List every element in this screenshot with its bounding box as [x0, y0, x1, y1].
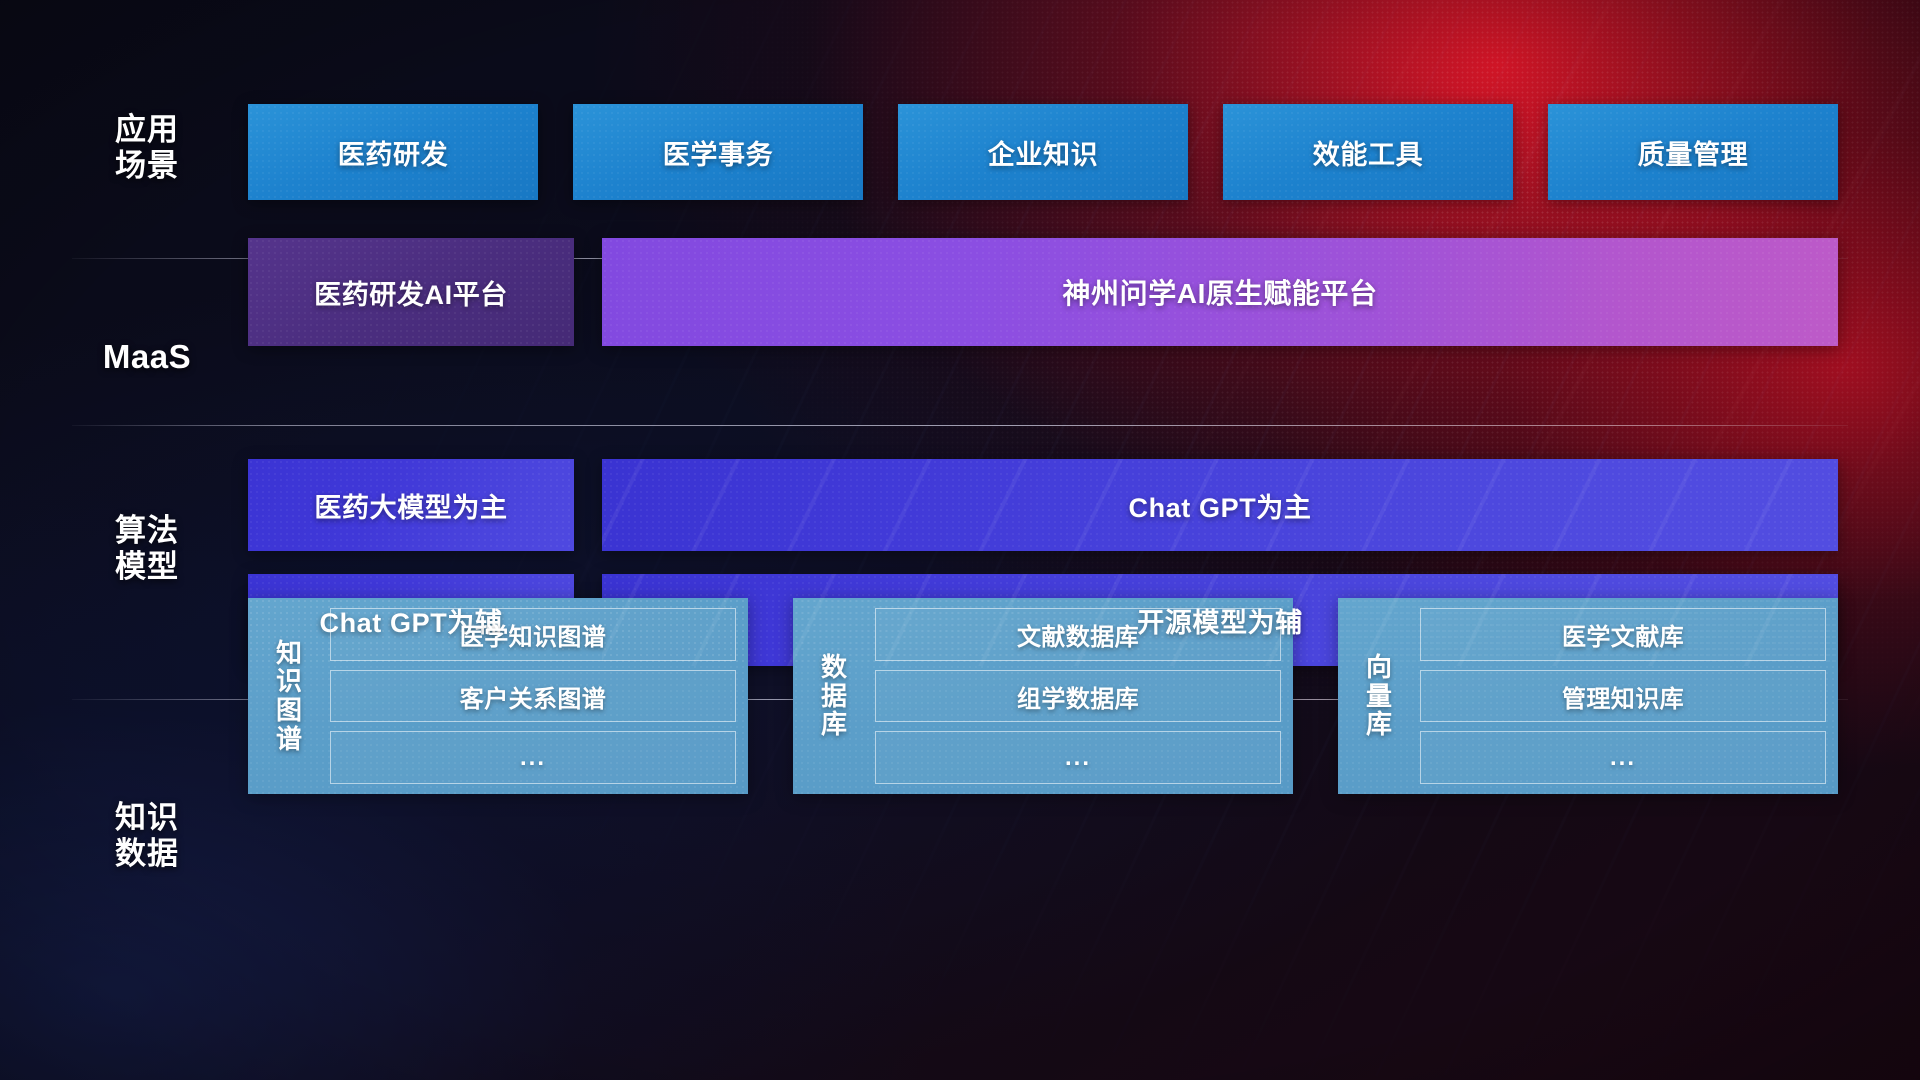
knowledge-group-label-char-4: 谱 — [276, 725, 302, 754]
database-label-char-2: 据 — [821, 682, 847, 711]
knowledge-item-medical-knowledge-graph[interactable]: 医学知识图谱 — [330, 608, 736, 661]
app-scenario-label-5: 质量管理 — [1638, 133, 1748, 172]
app-scenario-box-5[interactable]: 质量管理 — [1548, 104, 1838, 200]
knowledge-group-label-knowledge-graph: 知 识 图 谱 — [258, 608, 320, 784]
maas-label-pharma-ai-platform: 医药研发AI平台 — [314, 273, 508, 312]
knowledge-group-items-knowledge-graph: 医学知识图谱 客户关系图谱 ... — [330, 608, 736, 784]
knowledge-item-more-1[interactable]: ... — [330, 731, 736, 784]
app-scenario-label-3: 企业知识 — [988, 133, 1098, 172]
vector-store-label-char-2: 量 — [1366, 682, 1392, 711]
tier-label-maas: MaaS — [88, 338, 206, 377]
algo-label-row1-left: 医药大模型为主 — [314, 486, 507, 525]
architecture-diagram: 应用 场景 医药研发 医学事务 企业知识 效能工具 质量管理 MaaS 医药研发… — [0, 0, 1920, 1080]
vector-store-label-char-3: 库 — [1366, 710, 1392, 739]
knowledge-group-items-vector-store: 医学文献库 管理知识库 ... — [1420, 608, 1826, 784]
tier-label-algorithm-models: 算法 模型 — [88, 513, 206, 586]
maas-label-shenzhou-platform: 神州问学AI原生赋能平台 — [1062, 272, 1377, 312]
vector-store-label-char-1: 向 — [1366, 653, 1392, 682]
algo-label-row1-right: Chat GPT为主 — [1128, 486, 1311, 525]
tier-label-application-scenarios: 应用 场景 — [88, 112, 206, 185]
knowledge-group-label-char-2: 识 — [276, 667, 302, 696]
database-label-char-1: 数 — [821, 653, 847, 682]
app-scenario-label-2: 医学事务 — [663, 133, 773, 172]
database-label-char-3: 库 — [821, 710, 847, 739]
app-scenario-box-4[interactable]: 效能工具 — [1223, 104, 1513, 200]
divider-tier2-tier3 — [72, 425, 1848, 426]
app-scenario-box-2[interactable]: 医学事务 — [573, 104, 863, 200]
algo-box-row1-right[interactable]: Chat GPT为主 — [602, 459, 1838, 551]
knowledge-group-label-vector-store: 向 量 库 — [1348, 608, 1410, 784]
knowledge-item-more-2[interactable]: ... — [875, 731, 1281, 784]
knowledge-item-literature-database[interactable]: 文献数据库 — [875, 608, 1281, 661]
knowledge-group-label-char-1: 知 — [276, 639, 302, 668]
knowledge-group-items-database: 文献数据库 组学数据库 ... — [875, 608, 1281, 784]
maas-box-shenzhou-platform[interactable]: 神州问学AI原生赋能平台 — [602, 238, 1838, 346]
knowledge-item-customer-relation-graph[interactable]: 客户关系图谱 — [330, 670, 736, 723]
knowledge-group-vector-store[interactable]: 向 量 库 医学文献库 管理知识库 ... — [1338, 598, 1838, 794]
knowledge-item-medical-literature-store[interactable]: 医学文献库 — [1420, 608, 1826, 661]
maas-box-pharma-ai-platform[interactable]: 医药研发AI平台 — [248, 238, 574, 346]
app-scenario-label-4: 效能工具 — [1313, 133, 1423, 172]
knowledge-item-management-knowledge-store[interactable]: 管理知识库 — [1420, 670, 1826, 723]
app-scenario-box-1[interactable]: 医药研发 — [248, 104, 538, 200]
app-scenario-box-3[interactable]: 企业知识 — [898, 104, 1188, 200]
knowledge-group-label-char-3: 图 — [276, 696, 302, 725]
tier-label-knowledge-data: 知识 数据 — [88, 800, 206, 873]
app-scenario-label-1: 医药研发 — [338, 133, 448, 172]
knowledge-group-label-database: 数 据 库 — [803, 608, 865, 784]
algo-box-row1-left[interactable]: 医药大模型为主 — [248, 459, 574, 551]
knowledge-item-omics-database[interactable]: 组学数据库 — [875, 670, 1281, 723]
knowledge-group-database[interactable]: 数 据 库 文献数据库 组学数据库 ... — [793, 598, 1293, 794]
knowledge-item-more-3[interactable]: ... — [1420, 731, 1826, 784]
